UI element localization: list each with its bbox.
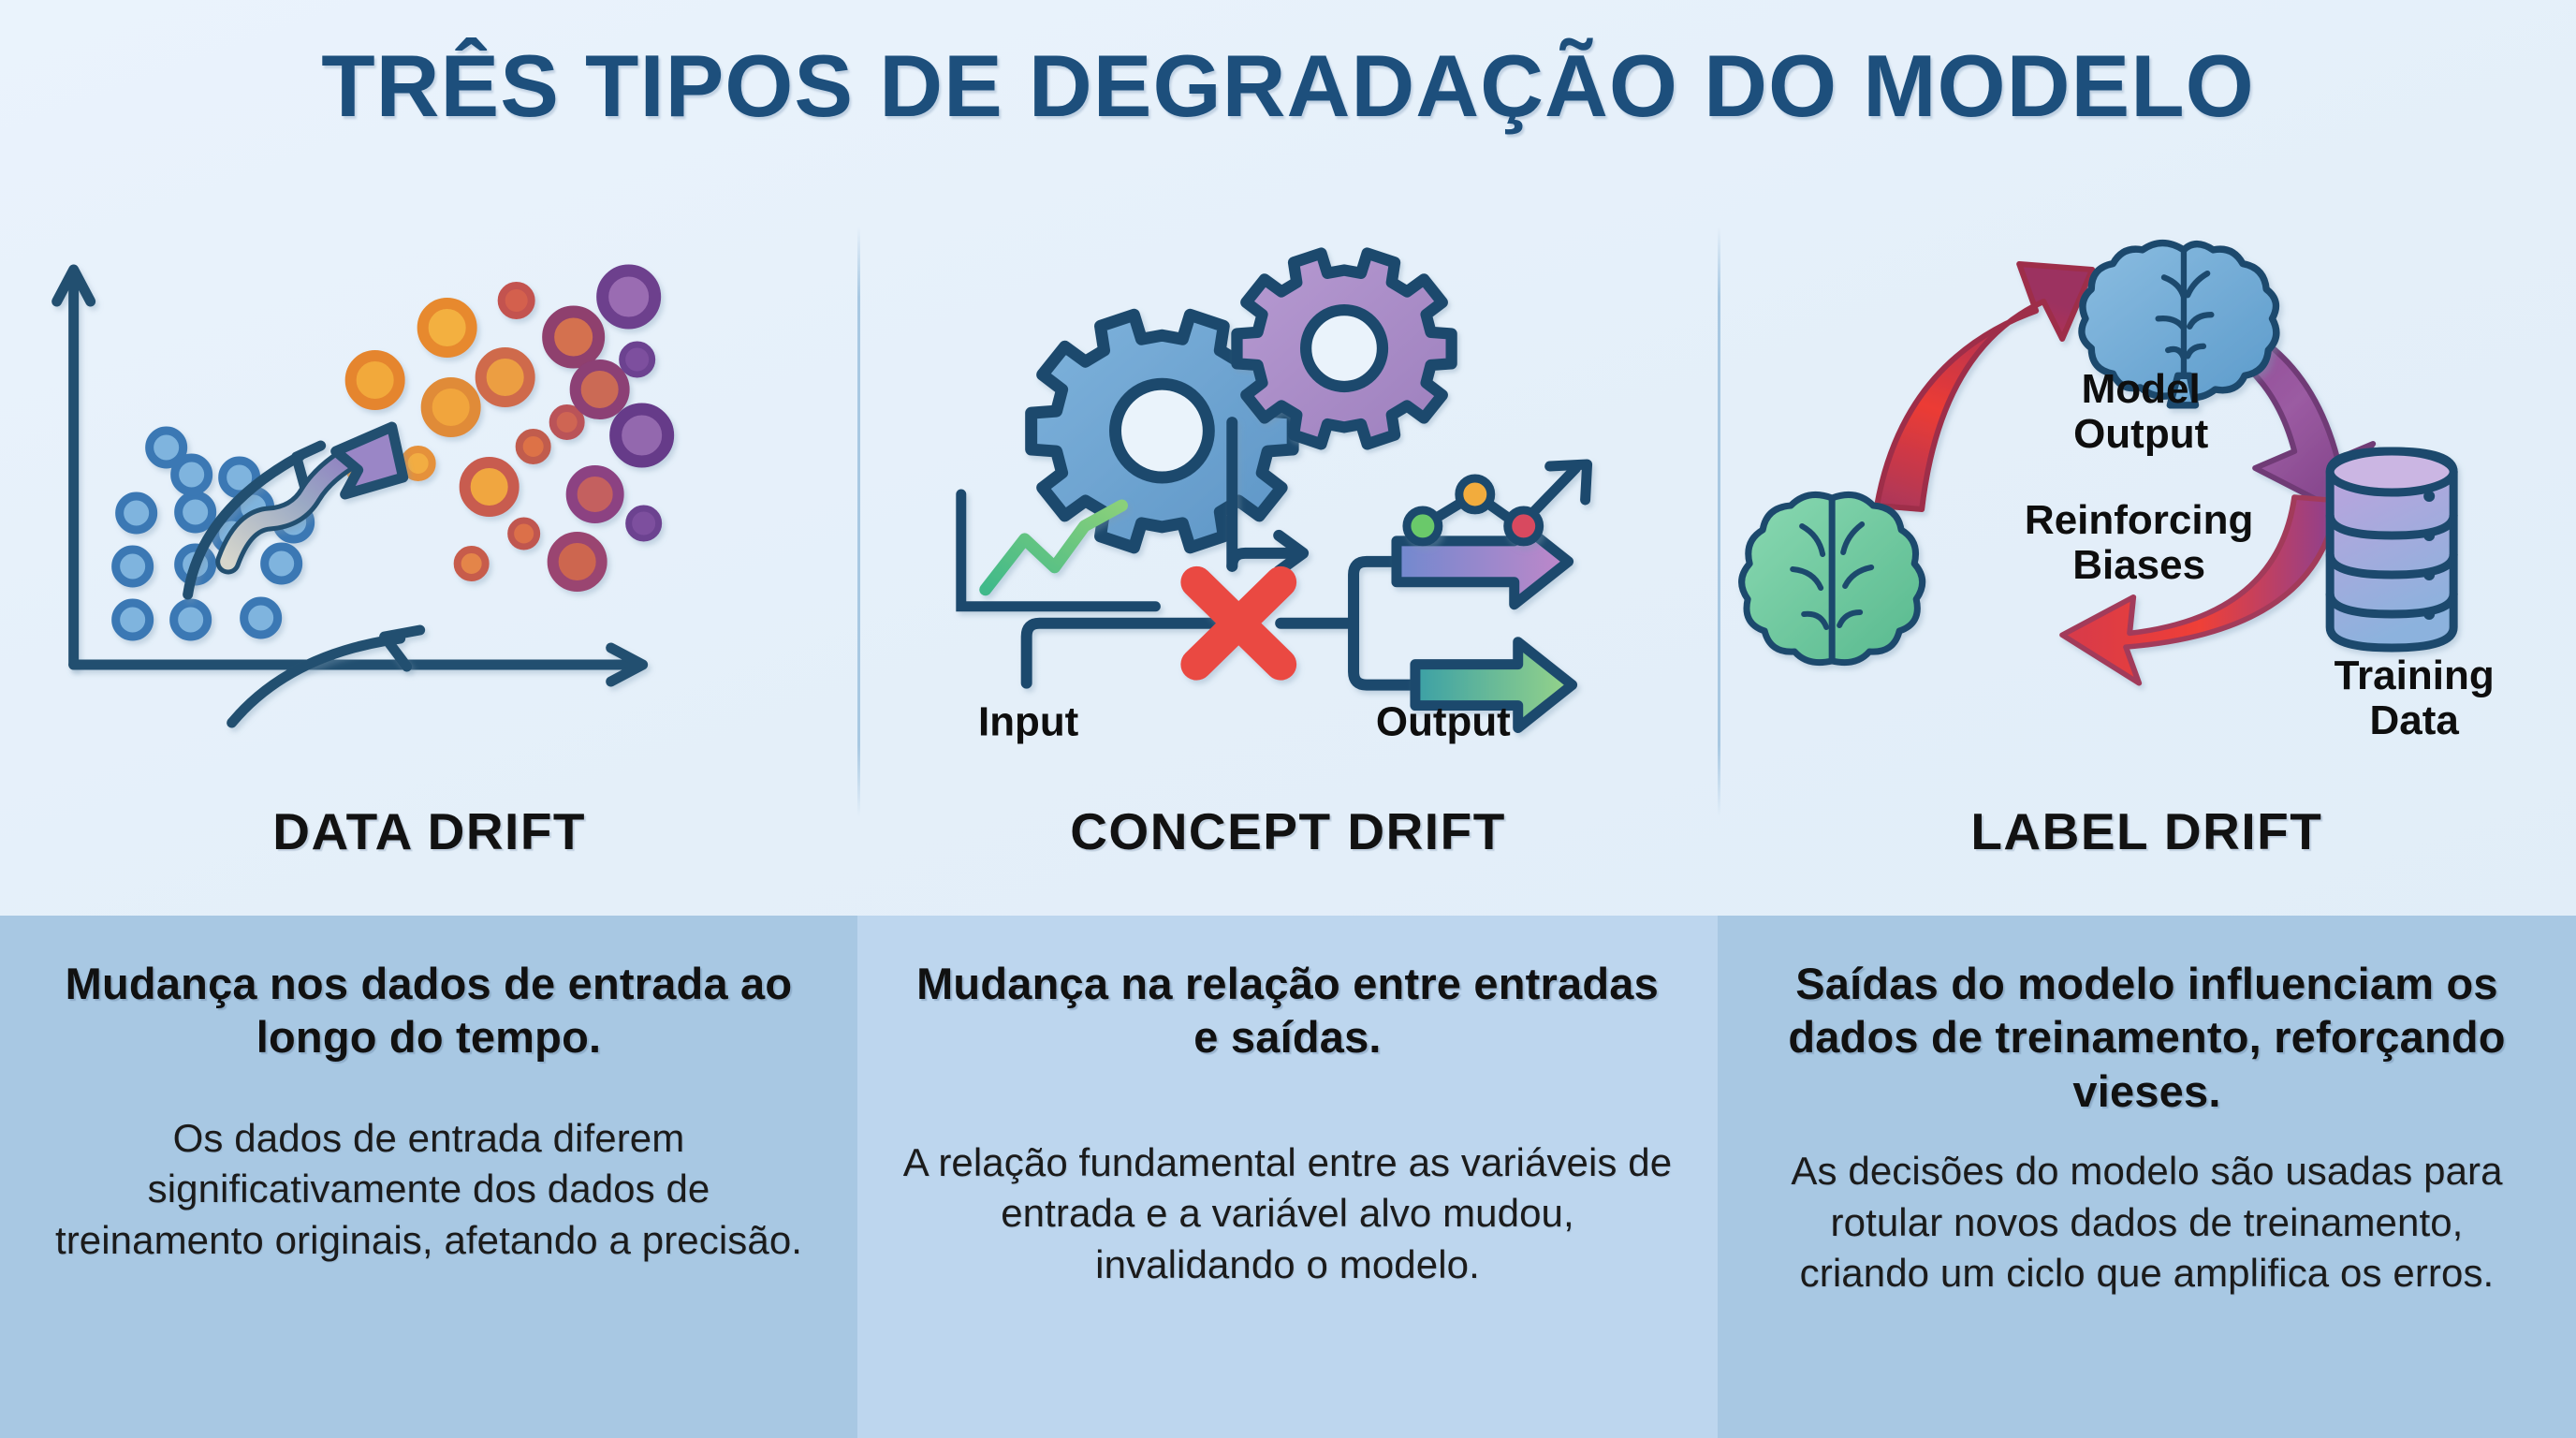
node-label-reinforcing-biases-2: Biases	[2072, 542, 2205, 588]
curved-arrow-icon	[232, 630, 420, 723]
panel-title-label-drift: LABEL DRIFT	[1718, 801, 2576, 861]
node-label-model-output-2: Output	[2073, 411, 2209, 457]
database-icon	[2330, 451, 2453, 648]
curved-arrow-red-icon	[1877, 264, 2092, 509]
panel-label-drift: Model Output Reinforcing Biases Training…	[1718, 197, 2576, 916]
concept-drift-illustration: Input Output	[858, 197, 1717, 758]
node-label-reinforcing-biases: Reinforcing	[2025, 497, 2253, 543]
description-bands: Mudança nos dados de entrada ao longo do…	[0, 916, 2576, 1438]
output-label: Output	[1376, 698, 1511, 744]
band-label-drift: Saídas do modelo influenciam os dados de…	[1718, 916, 2576, 1438]
gear-icon	[1237, 254, 1452, 445]
panel-title-data-drift: DATA DRIFT	[0, 801, 858, 861]
data-drift-illustration	[0, 197, 858, 758]
node-label-training-data-2: Data	[2369, 697, 2459, 743]
panel-title-concept-drift: CONCEPT DRIFT	[858, 801, 1717, 861]
band-headline: Mudança na relação entre entradas e saíd…	[900, 957, 1675, 1064]
label-drift-illustration: Model Output Reinforcing Biases Training…	[1718, 197, 2576, 758]
x-axis-arrow-icon	[74, 648, 643, 682]
band-headline: Saídas do modelo influenciam os dados de…	[1761, 957, 2533, 1118]
panel-concept-drift: Input Output CONCEPT DRIFT	[858, 197, 1717, 916]
band-data-drift: Mudança nos dados de entrada ao longo do…	[0, 916, 857, 1438]
trend-up-icon	[1407, 464, 1588, 542]
column-divider	[1718, 227, 1720, 816]
band-body: A relação fundamental entre as variáveis…	[900, 1137, 1675, 1291]
node-label-model-output: Model	[2081, 366, 2200, 412]
y-axis-arrow-icon	[57, 270, 91, 665]
band-headline: Mudança nos dados de entrada ao longo do…	[43, 957, 814, 1064]
brain-icon	[1741, 494, 1922, 662]
panels-row: DATA DRIFT	[0, 197, 2576, 916]
column-divider	[857, 227, 860, 816]
band-concept-drift: Mudança na relação entre entradas e saíd…	[857, 916, 1718, 1438]
band-body: Os dados de entrada diferem significativ…	[43, 1113, 814, 1267]
input-label: Input	[978, 698, 1079, 744]
page-title: TRÊS TIPOS DE DEGRADAÇÃO DO MODELO	[0, 36, 2576, 137]
node-label-training-data: Training	[2334, 653, 2494, 698]
infographic-root: TRÊS TIPOS DE DEGRADAÇÃO DO MODELO	[0, 0, 2576, 1438]
panel-data-drift: DATA DRIFT	[0, 197, 858, 916]
band-body: As decisões do modelo são usadas para ro…	[1761, 1146, 2533, 1299]
